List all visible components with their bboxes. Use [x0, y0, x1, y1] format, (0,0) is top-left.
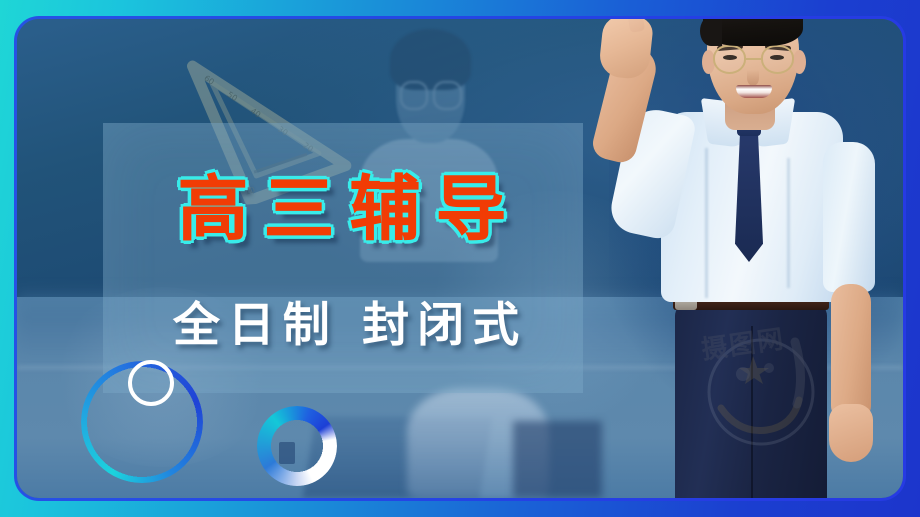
decorative-small-ring	[128, 360, 174, 406]
teacher-shirt-fold	[787, 158, 790, 288]
teacher-shirt-fold	[705, 148, 708, 298]
decorative-donut-ring	[257, 406, 337, 486]
teacher-ear-right	[793, 50, 806, 74]
teacher-necktie	[735, 132, 763, 262]
ghost-hair	[390, 29, 471, 91]
ghost-glasses-right-icon	[433, 81, 461, 109]
teacher-right-sleeve	[823, 142, 875, 292]
page-subtitle: 全日制 封闭式	[120, 302, 580, 349]
teacher-right-hand	[829, 404, 873, 462]
glasses-lens-left-icon	[713, 45, 746, 74]
teacher-hair	[703, 19, 803, 46]
page-title: 高三辅导	[120, 174, 580, 244]
promo-banner: 60 50 40 30 20 10 高三辅导 全日制 封闭式	[0, 0, 920, 517]
teacher-trousers	[675, 302, 827, 498]
teacher-figure	[609, 19, 903, 498]
teacher-mouth	[736, 85, 772, 98]
teacher-nose	[747, 70, 759, 86]
decorative-donut-core	[279, 442, 295, 464]
glasses-lens-right-icon	[761, 45, 794, 74]
background-chair	[513, 421, 602, 498]
ghost-glasses-left-icon	[400, 81, 428, 109]
teacher-right-forearm	[831, 284, 871, 420]
glasses-bridge-icon	[746, 58, 761, 61]
inner-card: 60 50 40 30 20 10 高三辅导 全日制 封闭式	[17, 19, 903, 498]
